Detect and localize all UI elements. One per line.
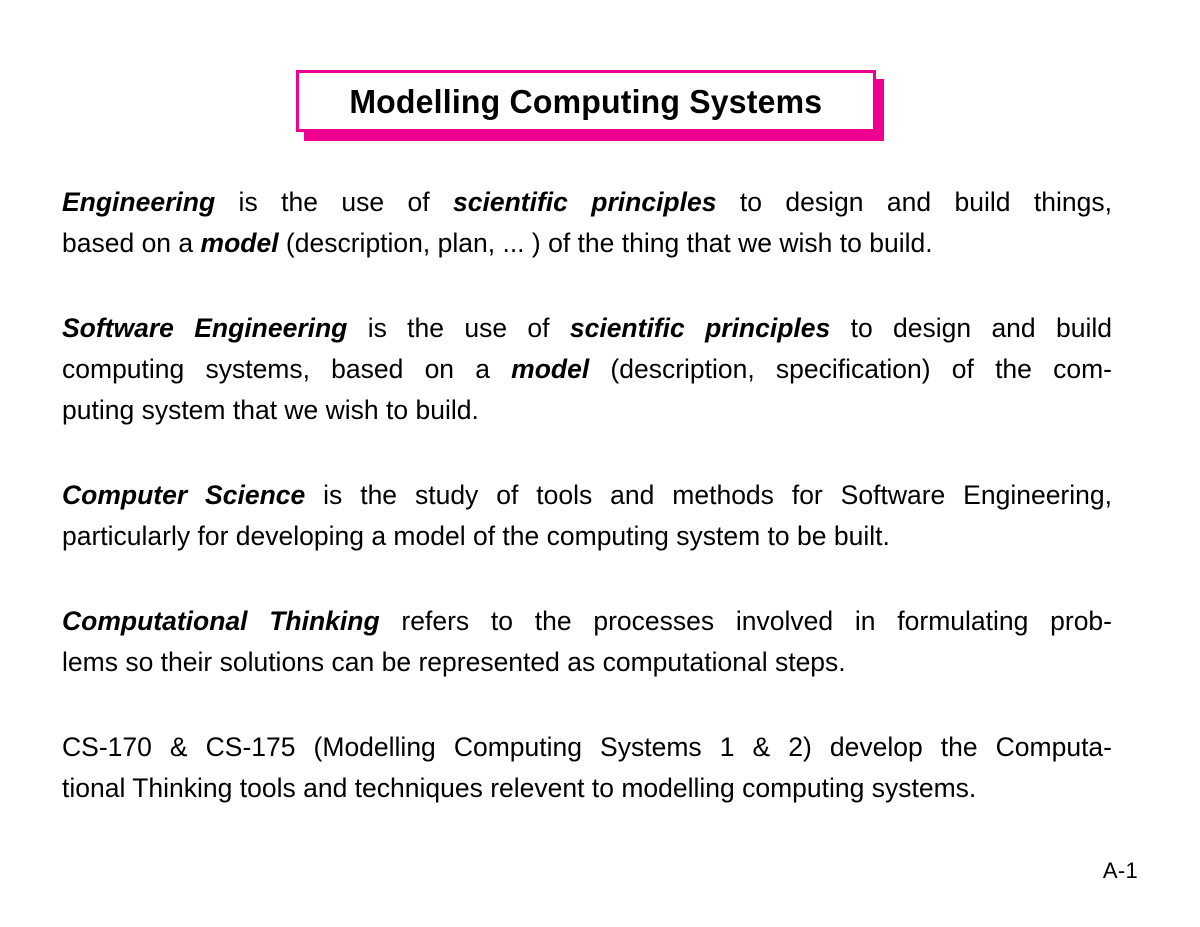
emphasised-term: model: [511, 354, 589, 384]
emphasised-term: Computer Science: [62, 480, 305, 510]
body-text: is the study of tools and methods for So…: [305, 480, 1112, 510]
body-text: tional Thinking tools and techniques rel…: [62, 773, 976, 803]
body-text: is the use of: [215, 187, 453, 217]
emphasised-term: model: [201, 228, 279, 258]
text-line: CS-170 & CS-175 (Modelling Computing Sys…: [62, 727, 1112, 768]
body-text: lems so their solutions can be represent…: [62, 647, 846, 677]
slide-body: Engineering is the use of scientific pri…: [62, 182, 1112, 809]
paragraph-engineering: Engineering is the use of scientific pri…: [62, 182, 1112, 264]
body-text: to design and build: [830, 313, 1112, 343]
page-title: Modelling Computing Systems: [350, 85, 823, 118]
paragraph-courses: CS-170 & CS-175 (Modelling Computing Sys…: [62, 727, 1112, 809]
body-text: is the use of: [347, 313, 569, 343]
emphasised-term: Engineering: [62, 187, 215, 217]
text-line: computing systems, based on a model (des…: [62, 349, 1112, 390]
text-line: Engineering is the use of scientific pri…: [62, 182, 1112, 223]
body-text: puting system that we wish to build.: [62, 395, 479, 425]
body-text: refers to the processes involved in form…: [380, 606, 1112, 636]
emphasised-term: scientific principles: [453, 187, 716, 217]
text-line: puting system that we wish to build.: [62, 390, 1112, 431]
text-line: lems so their solutions can be represent…: [62, 642, 1112, 683]
text-line: based on a model (description, plan, ...…: [62, 223, 1112, 264]
body-text: CS-170 & CS-175 (Modelling Computing Sys…: [62, 732, 1112, 762]
text-line: particularly for developing a model of t…: [62, 516, 1112, 557]
emphasised-term: Computational Thinking: [62, 606, 380, 636]
page-number: A-1: [1103, 858, 1138, 884]
paragraph-computer-science: Computer Science is the study of tools a…: [62, 475, 1112, 557]
body-text: computing systems, based on a: [62, 354, 511, 384]
emphasised-term: scientific principles: [570, 313, 830, 343]
text-line: tional Thinking tools and techniques rel…: [62, 768, 1112, 809]
text-line: Software Engineering is the use of scien…: [62, 308, 1112, 349]
text-line: Computational Thinking refers to the pro…: [62, 601, 1112, 642]
body-text: based on a: [62, 228, 201, 258]
paragraph-software-engineering: Software Engineering is the use of scien…: [62, 308, 1112, 431]
title-banner-box: Modelling Computing Systems: [296, 70, 876, 132]
text-line: Computer Science is the study of tools a…: [62, 475, 1112, 516]
emphasised-term: Software Engineering: [62, 313, 347, 343]
body-text: (description, plan, ... ) of the thing t…: [279, 228, 933, 258]
body-text: particularly for developing a model of t…: [62, 521, 890, 551]
body-text: to design and build things,: [716, 187, 1112, 217]
slide-title-banner: Modelling Computing Systems: [296, 70, 876, 132]
slide-page: Modelling Computing Systems Engineering …: [0, 0, 1200, 927]
body-text: (description, specification) of the com-: [589, 354, 1112, 384]
paragraph-computational-thinking: Computational Thinking refers to the pro…: [62, 601, 1112, 683]
